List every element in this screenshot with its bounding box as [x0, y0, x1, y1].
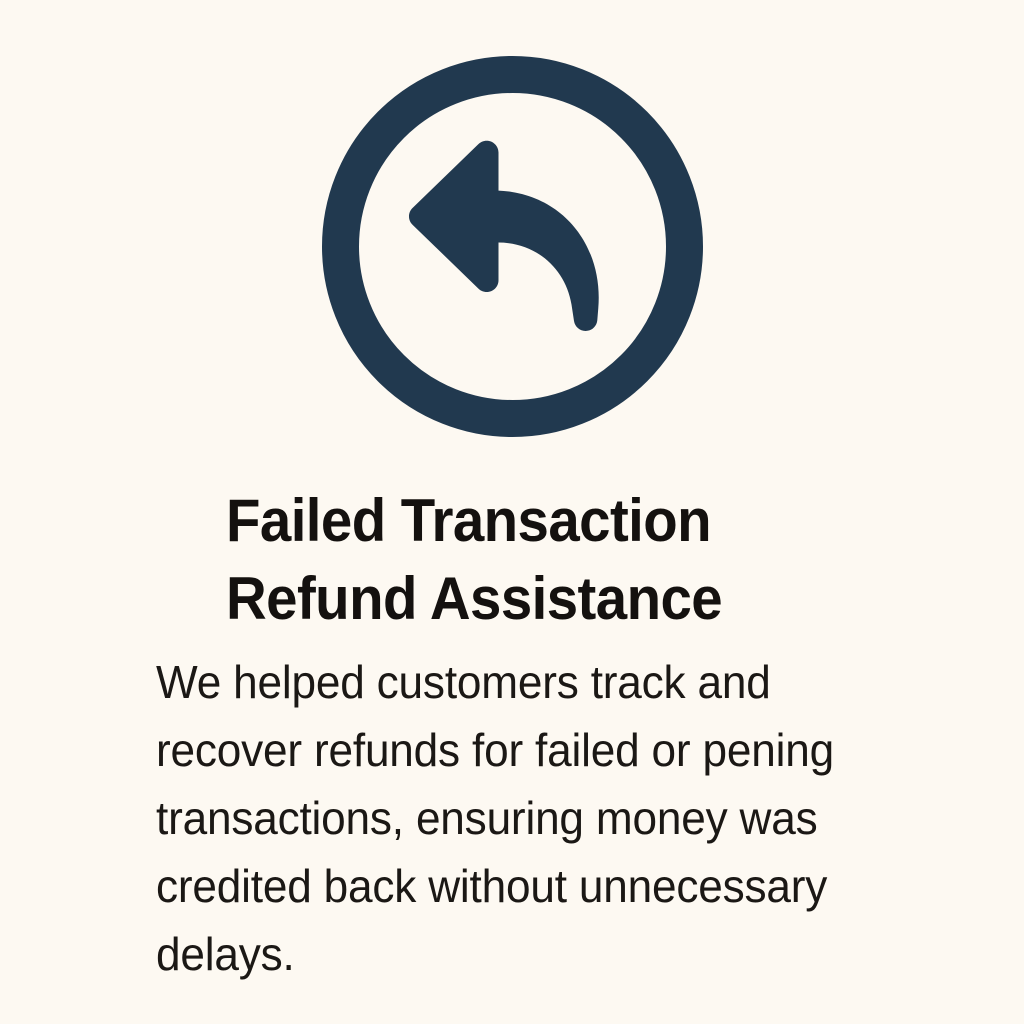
refund-assistance-card: Failed Transaction Refund Assistance We …: [0, 0, 1024, 1024]
reply-arrow-in-circle-icon: [322, 56, 703, 437]
description-text: We helped customers track and recover re…: [156, 648, 914, 988]
page-title: Failed Transaction Refund Assistance: [226, 482, 809, 638]
